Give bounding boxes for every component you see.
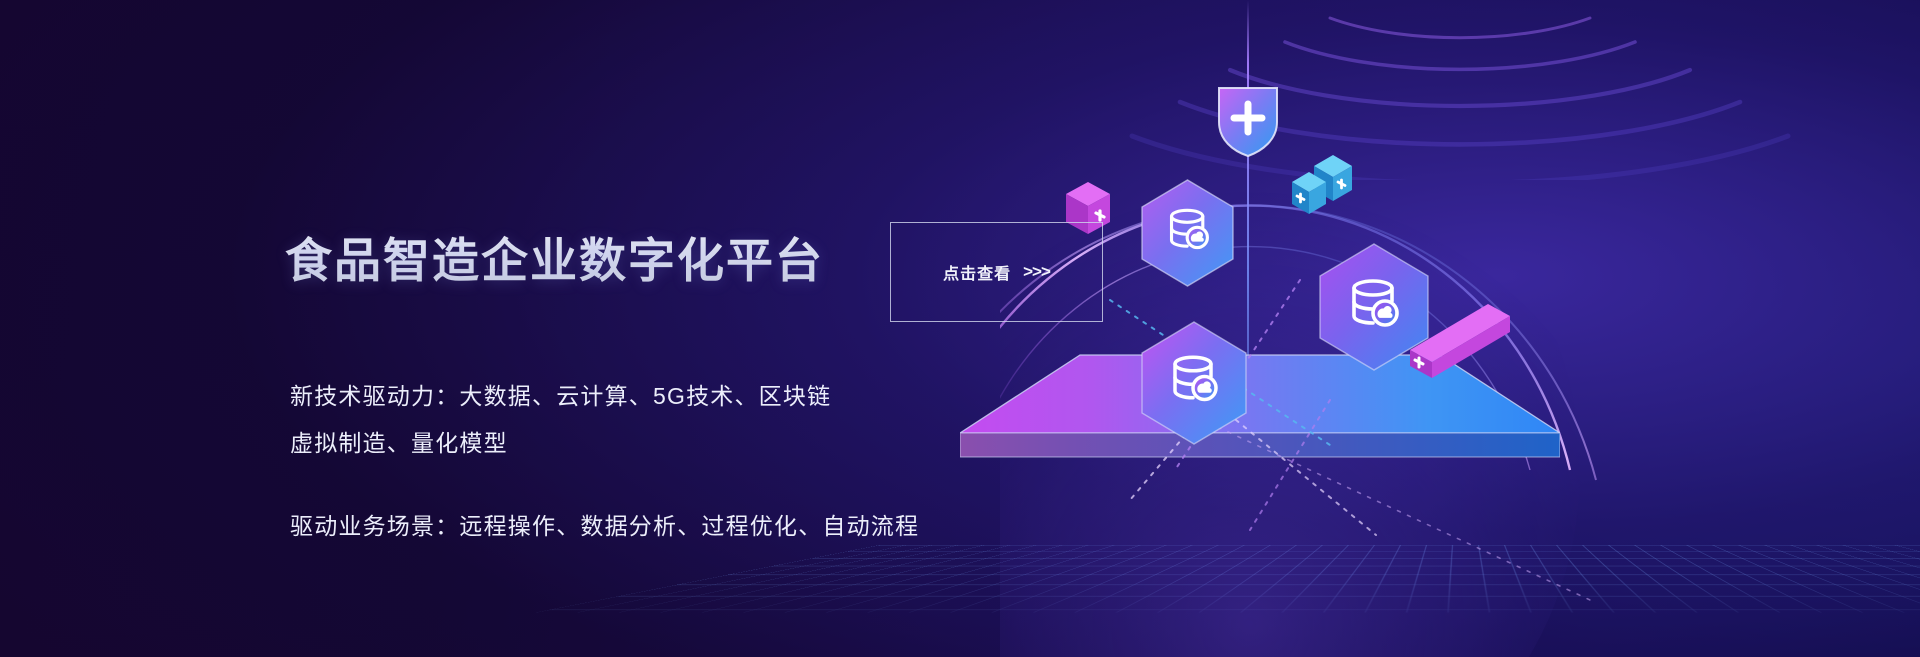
banner-content: 食品智造企业数字化平台 点击查看 >>> 新技术驱动力：大数据、云计算、5G技术… bbox=[0, 0, 1060, 657]
hero-banner: 食品智造企业数字化平台 点击查看 >>> 新技术驱动力：大数据、云计算、5G技术… bbox=[0, 0, 1920, 657]
shield-plus-icon[interactable] bbox=[1215, 82, 1281, 158]
page-title: 食品智造企业数字化平台 bbox=[285, 222, 824, 291]
view-details-button[interactable]: 点击查看 >>> bbox=[890, 222, 1103, 322]
paragraph-tech-drivers-cont: 虚拟制造、量化模型 bbox=[290, 424, 508, 458]
hex-node-top-left[interactable] bbox=[1140, 178, 1235, 288]
chevron-right-icon: >>> bbox=[1023, 262, 1050, 282]
cube-cyan-upper[interactable] bbox=[1288, 150, 1360, 231]
bar-magenta-right[interactable] bbox=[1400, 290, 1520, 387]
cta-label: 点击查看 bbox=[943, 260, 1011, 284]
cta-inner: 点击查看 >>> bbox=[943, 260, 1050, 284]
paragraph-business-scenarios: 驱动业务场景：远程操作、数据分析、过程优化、自动流程 bbox=[290, 507, 919, 541]
paragraph-tech-drivers: 新技术驱动力：大数据、云计算、5G技术、区块链 bbox=[290, 377, 831, 411]
cube-plus-icon bbox=[1288, 150, 1360, 226]
title-row: 食品智造企业数字化平台 bbox=[285, 222, 824, 291]
hex-node-bottom-left[interactable] bbox=[1140, 320, 1248, 446]
illustration bbox=[1000, 0, 1920, 657]
bar-plus-icon bbox=[1400, 290, 1520, 382]
